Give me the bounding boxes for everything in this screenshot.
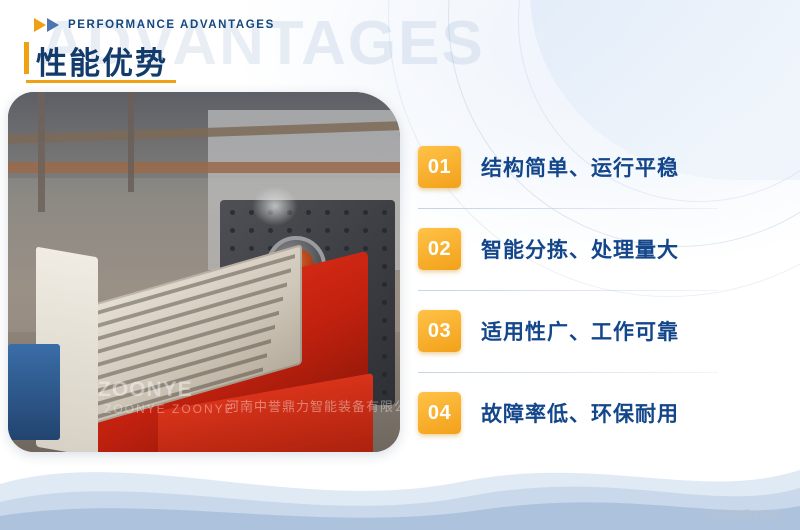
title-accent-bar (24, 42, 29, 74)
feature-label: 智能分拣、处理量大 (481, 234, 679, 264)
eyebrow-label: PERFORMANCE ADVANTAGES (68, 19, 275, 31)
photo-mesh-dot (382, 210, 387, 215)
photo-mesh-dot (382, 300, 387, 305)
photo-mesh-dot (344, 246, 349, 251)
photo-mesh-dot (363, 210, 368, 215)
photo-mesh-dot (344, 210, 349, 215)
photo-mesh-dot (287, 228, 292, 233)
footer-code-label: 23629@HWL (701, 507, 784, 522)
feature-item: 02 智能分拣、处理量大 (418, 208, 762, 290)
photo-mesh-dot (306, 210, 311, 215)
photo-mesh-dot (363, 228, 368, 233)
feature-number-badge: 01 (418, 146, 461, 188)
photo-beam (8, 162, 400, 173)
photo-mesh-dot (230, 246, 235, 251)
photo-mesh-dot (363, 246, 368, 251)
feature-list: 01 结构简单、运行平稳 02 智能分拣、处理量大 03 适用性广、工作可靠 0… (418, 126, 762, 454)
feature-label: 结构简单、运行平稳 (481, 152, 679, 182)
photo-column (38, 92, 45, 212)
triangle-secondary-icon (47, 18, 59, 32)
photo-mesh-dot (249, 228, 254, 233)
photo-mesh-dot (249, 246, 254, 251)
photo-mesh-dot (325, 228, 330, 233)
photo-column (128, 92, 134, 192)
slide-root: ADVANTAGES PERFORMANCE ADVANTAGES 性能优势 Z… (0, 0, 800, 530)
title-bottom-rule (26, 80, 176, 83)
photo-mesh-dot (325, 246, 330, 251)
photo-mesh-dot (382, 228, 387, 233)
photo-mesh-dot (382, 282, 387, 287)
photo-mesh-dot (382, 264, 387, 269)
feature-label: 适用性广、工作可靠 (481, 316, 679, 346)
eyebrow-group: PERFORMANCE ADVANTAGES (34, 18, 275, 32)
photo-mesh-dot (382, 318, 387, 323)
photo-steam (252, 186, 298, 226)
photo-mesh-dot (306, 228, 311, 233)
photo-mesh-dot (325, 210, 330, 215)
photo-watermark-logo: ZOONYE (98, 378, 193, 402)
photo-mesh-dot (344, 228, 349, 233)
product-photo: ZOONYE ZOONYE ZOONYE 河南中誉鼎力智能装备有限公司 (8, 92, 400, 452)
photo-mesh-dot (382, 336, 387, 341)
wave-shape-icon (0, 410, 800, 530)
photo-mesh-dot (268, 228, 273, 233)
photo-mesh-dot (382, 354, 387, 359)
photo-mesh-dot (382, 390, 387, 395)
feature-item: 01 结构简单、运行平稳 (418, 126, 762, 208)
photo-mesh-dot (230, 210, 235, 215)
photo-mesh-dot (382, 372, 387, 377)
photo-mesh-dot (382, 246, 387, 251)
page-title: 性能优势 (36, 38, 168, 83)
photo-mesh-dot (230, 228, 235, 233)
feature-number-badge: 02 (418, 228, 461, 270)
feature-number-badge: 03 (418, 310, 461, 352)
bottom-wave-decoration (0, 410, 800, 530)
feature-item: 03 适用性广、工作可靠 (418, 290, 762, 372)
triangle-icon (34, 18, 46, 32)
